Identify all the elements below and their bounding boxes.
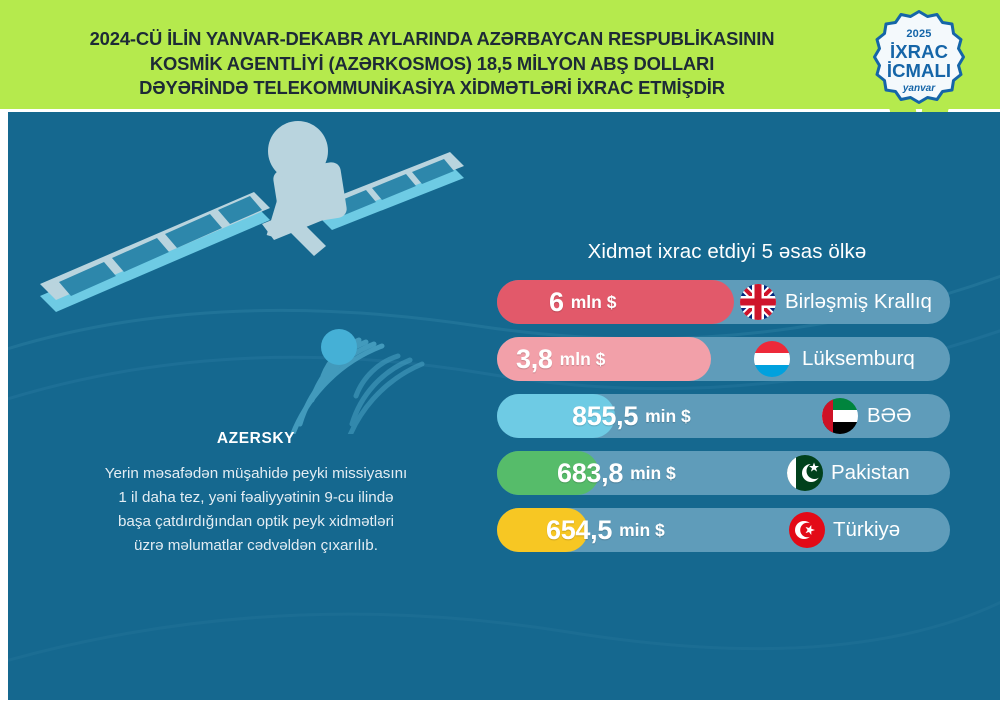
bar-row-birlesmis-kralliq: 6 mln $ Birləşmiş Krallıq xyxy=(497,280,950,324)
azersky-heading: AZERSKY xyxy=(36,430,476,448)
bar-value-unit: mln $ xyxy=(560,349,606,370)
satellite-icon xyxy=(26,112,496,434)
bar-value-label: 654,5 min $ xyxy=(546,508,665,552)
badge-year: 2025 xyxy=(906,28,931,41)
main-panel: AZERSKY Yerin məsafədən müşahidə peyki m… xyxy=(8,112,1000,700)
bar-row-luksemburq: 3,8 mln $ Lüksemburq xyxy=(497,337,950,381)
badge-line2: İCMALI xyxy=(887,61,951,80)
bar-value-label: 683,8 min $ xyxy=(557,451,676,495)
bar-value-number: 855,5 xyxy=(572,401,638,432)
flag-pakistan-icon xyxy=(787,455,823,491)
badge-text-group: 2025 İXRAC İCMALI yanvar xyxy=(868,10,970,112)
bar-value-number: 683,8 xyxy=(557,458,623,489)
bar-value-label: 3,8 mln $ xyxy=(516,337,605,381)
bar-country-label: Pakistan xyxy=(831,451,910,495)
page-title: 2024-CÜ İLİN YANVAR-DEKABR AYLARINDA AZƏ… xyxy=(26,27,838,101)
bar-value-number: 3,8 xyxy=(516,344,553,375)
chart-title: Xidmət ixrac etdiyi 5 əsas ölkə xyxy=(497,240,957,264)
bar-row-turkiye: 654,5 min $ Türkiyə xyxy=(497,508,950,552)
azersky-description: Yerin məsafədən müşahidə peyki missiyası… xyxy=(36,462,476,558)
bar-value-number: 654,5 xyxy=(546,515,612,546)
bar-country-label: Türkiyə xyxy=(833,508,900,552)
bar-value-label: 6 mln $ xyxy=(549,280,616,324)
infographic-page: 2024-CÜ İLİN YANVAR-DEKABR AYLARINDA AZƏ… xyxy=(0,0,1000,708)
flag-turkiye-icon xyxy=(789,512,825,548)
bar-value-number: 6 xyxy=(549,287,564,318)
bar-country-label: Birləşmiş Krallıq xyxy=(785,280,932,324)
flag-united-kingdom-icon xyxy=(740,284,776,320)
badge-month: yanvar xyxy=(903,82,935,95)
header-banner: 2024-CÜ İLİN YANVAR-DEKABR AYLARINDA AZƏ… xyxy=(0,0,1000,109)
bar-value-unit: min $ xyxy=(619,520,665,541)
bar-country-label: Lüksemburq xyxy=(802,337,915,381)
bar-value-unit: mln $ xyxy=(571,292,617,313)
bar-row-bee: 855,5 min $ BƏƏ xyxy=(497,394,950,438)
bar-country-label: BƏƏ xyxy=(867,394,912,438)
badge-line1: İXRAC xyxy=(890,42,948,61)
bar-value-unit: min $ xyxy=(630,463,676,484)
bar-row-pakistan: 683,8 min $ Pakistan xyxy=(497,451,950,495)
flag-luxembourg-icon xyxy=(754,341,790,377)
bar-value-label: 855,5 min $ xyxy=(572,394,691,438)
flag-uae-icon xyxy=(822,398,858,434)
bar-chart: 6 mln $ Birləşmiş Krallıq xyxy=(497,280,957,565)
bar-value-unit: min $ xyxy=(645,406,691,427)
